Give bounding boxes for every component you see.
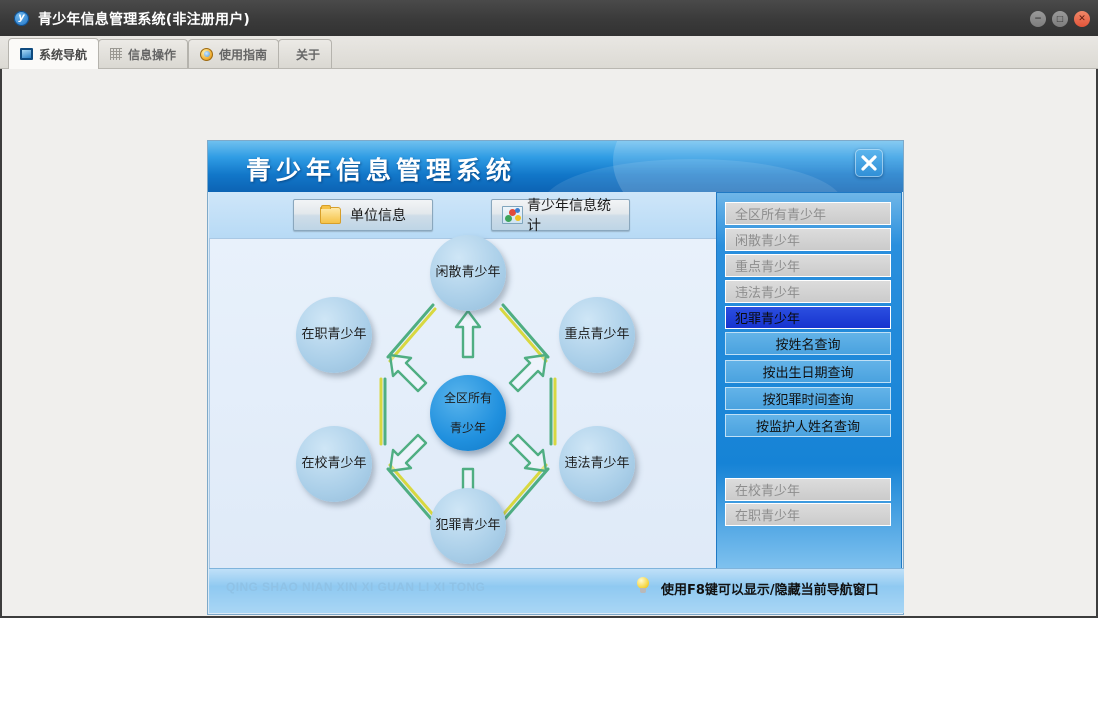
diagram-node-key-youth[interactable]: 重点青少年 [559,297,635,373]
dialog-title: 青少年信息管理系统 [246,151,516,187]
status-hint-text: 使用F8键可以显示/隐藏当前导航窗口 [661,579,879,598]
node-label: 重点青少年 [564,327,629,343]
nav-item-label: 按出生日期查询 [762,362,853,381]
nav-item-label: 闲散青少年 [735,230,800,249]
nav-item-label: 在职青少年 [735,505,800,524]
nav-item-all-youth[interactable]: 全区所有青少年 [725,202,891,225]
minimize-button[interactable]: − [1030,11,1046,27]
nav-item-key-youth[interactable]: 重点青少年 [725,254,891,277]
tab-label: 使用指南 [219,46,267,63]
tab-about[interactable]: 关于 [278,39,332,68]
tab-label: 信息操作 [128,46,176,63]
tab-label: 关于 [296,46,320,63]
youth-info-statistics-button[interactable]: 青少年信息统计 [491,199,630,231]
nav-item-query-by-birthdate[interactable]: 按出生日期查询 [725,360,891,383]
dialog-toolbar: 单位信息 青少年信息统计 [209,192,718,239]
minimize-icon: − [1030,11,1046,27]
grid-icon [110,48,122,60]
nav-item-query-by-crime-time[interactable]: 按犯罪时间查询 [725,387,891,410]
monitor-icon [20,48,33,60]
node-label: 在校青少年 [301,456,366,472]
node-label: 违法青少年 [564,456,629,472]
button-label: 单位信息 [350,205,406,225]
close-window-button[interactable]: ✕ [1074,11,1090,27]
node-label: 全区所有青少年 [438,391,498,436]
diagram-node-criminal-youth[interactable]: 犯罪青少年 [430,488,506,564]
close-icon: ✕ [1074,11,1090,27]
diagram-node-school-youth[interactable]: 在校青少年 [296,426,372,502]
navigation-panel: 全区所有青少年 闲散青少年 重点青少年 违法青少年 犯罪青少年 按姓名查询 按出… [716,192,902,570]
folder-icon [320,207,341,224]
nav-item-label: 在校青少年 [735,480,800,499]
tab-system-navigation[interactable]: 系统导航 [8,38,99,69]
navigation-dialog: 青少年信息管理系统 单位信息 青少年信息统计 [207,140,904,615]
diagram-node-employed-youth[interactable]: 在职青少年 [296,297,372,373]
dialog-status-bar: QING SHAO NIAN XIN XI GUAN LI XI TONG 使用… [209,568,904,613]
nav-item-label: 按监护人姓名查询 [756,416,860,435]
node-label: 在职青少年 [301,327,366,343]
coin-icon [200,48,213,61]
tab-label: 系统导航 [39,46,87,63]
nav-item-criminal-youth[interactable]: 犯罪青少年 [725,306,891,329]
category-diagram: 全区所有青少年 闲散青少年 重点青少年 违法青少年 犯罪青少年 在校青少年 在职… [209,238,718,570]
node-label: 犯罪青少年 [435,518,500,534]
unit-info-button[interactable]: 单位信息 [293,199,433,231]
app-logo-letter: y [14,10,29,26]
tab-info-operations[interactable]: 信息操作 [98,39,188,68]
application-window: y 青少年信息管理系统(非注册用户) − □ ✕ 系统导航 信息操作 使用指南 … [0,0,1098,618]
nav-item-employed-youth[interactable]: 在职青少年 [725,503,891,526]
tab-user-guide[interactable]: 使用指南 [188,39,279,68]
nav-item-illegal-youth[interactable]: 违法青少年 [725,280,891,303]
nav-item-label: 全区所有青少年 [735,204,826,223]
nav-item-idle-youth[interactable]: 闲散青少年 [725,228,891,251]
maximize-button[interactable]: □ [1052,11,1068,27]
diagram-node-idle-youth[interactable]: 闲散青少年 [430,235,506,311]
window-title: 青少年信息管理系统(非注册用户) [38,9,250,29]
nav-item-query-by-name[interactable]: 按姓名查询 [725,332,891,355]
nav-item-label: 重点青少年 [735,256,800,275]
tab-strip: 系统导航 信息操作 使用指南 关于 [0,36,1098,69]
diagram-node-illegal-youth[interactable]: 违法青少年 [559,426,635,502]
chart-icon [502,206,523,224]
nav-item-school-youth[interactable]: 在校青少年 [725,478,891,501]
button-label: 青少年信息统计 [527,195,619,235]
status-pinyin-text: QING SHAO NIAN XIN XI GUAN LI XI TONG [226,580,485,594]
diagram-node-center[interactable]: 全区所有青少年 [430,375,506,451]
window-titlebar: y 青少年信息管理系统(非注册用户) − □ ✕ [0,0,1098,36]
app-logo-icon: y [14,11,29,26]
dialog-close-icon[interactable] [855,149,883,177]
maximize-icon: □ [1052,11,1068,27]
nav-item-query-by-guardian-name[interactable]: 按监护人姓名查询 [725,414,891,437]
nav-item-label: 违法青少年 [735,282,800,301]
lightbulb-icon [636,577,650,594]
dialog-header: 青少年信息管理系统 [208,141,903,192]
node-label: 闲散青少年 [435,265,500,281]
nav-item-label: 按姓名查询 [775,334,840,353]
nav-item-label: 按犯罪时间查询 [762,389,853,408]
nav-item-label: 犯罪青少年 [735,308,800,327]
